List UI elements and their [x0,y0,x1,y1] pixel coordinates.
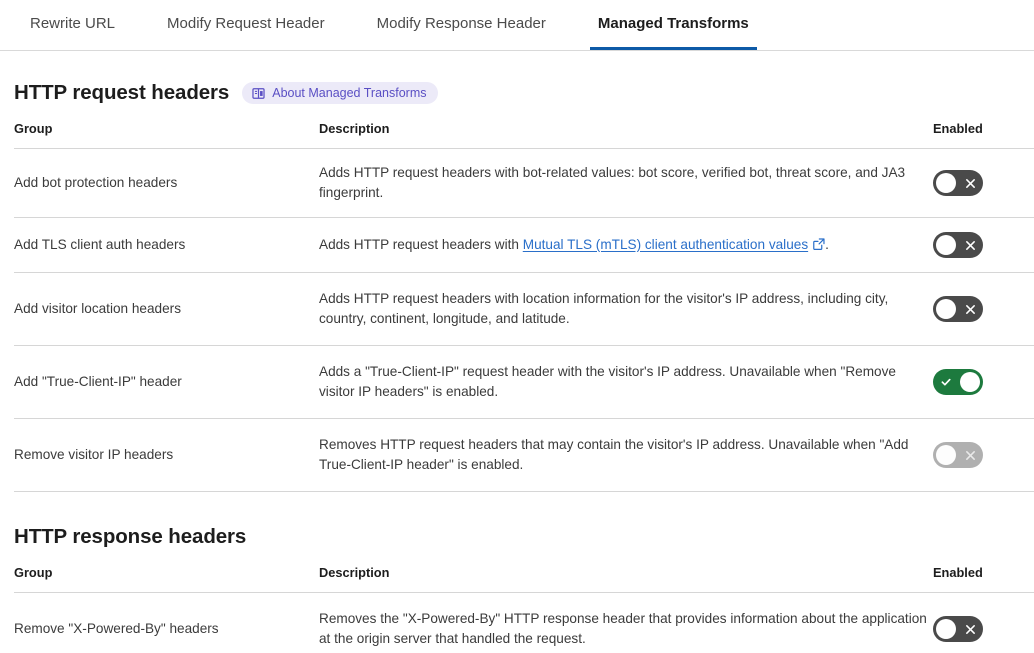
column-header-enabled: Enabled [933,565,1034,593]
toggle-cross-icon [957,616,983,642]
external-link-icon [813,236,825,256]
about-badge-label: About Managed Transforms [272,86,426,100]
row-enabled-cell [933,419,1034,492]
toggle-knob [936,235,956,255]
table-row: Add TLS client auth headers Adds HTTP re… [14,218,1034,273]
tab-label: Modify Request Header [167,15,325,32]
toggle-cross-icon [957,232,983,258]
row-group-name: Remove visitor IP headers [14,419,319,492]
response-headers-table: Group Description Enabled Remove "X-Powe… [14,565,1034,653]
tab-managed-transforms[interactable]: Managed Transforms [590,0,757,50]
request-section-header: HTTP request headers About Managed Trans… [14,81,1020,105]
row-enabled-cell [933,149,1034,218]
table-row: Add "True-Client-IP" header Adds a "True… [14,346,1034,419]
row-description: Removes HTTP request headers that may co… [319,419,933,492]
description-text-before: Adds HTTP request headers with [319,237,523,252]
row-description: Adds HTTP request headers with Mutual TL… [319,218,933,273]
row-description: Adds HTTP request headers with bot-relat… [319,149,933,218]
column-header-group: Group [14,565,319,593]
about-managed-transforms-badge[interactable]: About Managed Transforms [242,82,438,104]
link-label: Mutual TLS (mTLS) client authentication … [523,237,808,252]
tab-label: Modify Response Header [377,15,546,32]
toggle-remove-visitor-ip-headers [933,442,983,468]
tab-modify-response-header[interactable]: Modify Response Header [369,0,554,50]
row-group-name: Add "True-Client-IP" header [14,346,319,419]
toggle-knob [936,299,956,319]
toggle-remove-x-powered-by-headers[interactable] [933,616,983,642]
toggle-cross-icon [957,442,983,468]
table-row: Remove visitor IP headers Removes HTTP r… [14,419,1034,492]
toggle-knob [936,173,956,193]
tab-bar: Rewrite URL Modify Request Header Modify… [0,0,1034,51]
column-header-enabled: Enabled [933,121,1034,149]
mtls-documentation-link[interactable]: Mutual TLS (mTLS) client authentication … [523,237,825,252]
http-response-headers-section: HTTP response headers Group Description … [0,525,1034,653]
table-row: Add bot protection headers Adds HTTP req… [14,149,1034,218]
column-header-description: Description [319,565,933,593]
toggle-knob [936,445,956,465]
tab-rewrite-url[interactable]: Rewrite URL [22,0,123,50]
tab-modify-request-header[interactable]: Modify Request Header [159,0,333,50]
tab-label: Managed Transforms [598,15,749,32]
toggle-add-true-client-ip-header[interactable] [933,369,983,395]
column-header-description: Description [319,121,933,149]
row-description: Adds HTTP request headers with location … [319,273,933,346]
description-text-after: . [825,237,829,252]
table-header-row: Group Description Enabled [14,565,1034,593]
toggle-knob [936,619,956,639]
toggle-add-tls-client-auth-headers[interactable] [933,232,983,258]
toggle-cross-icon [957,296,983,322]
row-group-name: Remove "X-Powered-By" headers [14,593,319,653]
table-header-row: Group Description Enabled [14,121,1034,149]
tab-label: Rewrite URL [30,15,115,32]
toggle-cross-icon [957,170,983,196]
table-row: Add visitor location headers Adds HTTP r… [14,273,1034,346]
row-enabled-cell [933,593,1034,653]
request-headers-table: Group Description Enabled Add bot protec… [14,121,1034,492]
response-section-header: HTTP response headers [14,525,1020,549]
row-group-name: Add TLS client auth headers [14,218,319,273]
row-enabled-cell [933,218,1034,273]
http-request-headers-section: HTTP request headers About Managed Trans… [0,81,1034,492]
row-group-name: Add bot protection headers [14,149,319,218]
table-row: Remove "X-Powered-By" headers Removes th… [14,593,1034,653]
toggle-knob [960,372,980,392]
page-title-response: HTTP response headers [14,525,246,549]
row-group-name: Add visitor location headers [14,273,319,346]
page-title-request: HTTP request headers [14,81,229,105]
row-enabled-cell [933,273,1034,346]
row-description: Adds a "True-Client-IP" request header w… [319,346,933,419]
toggle-add-visitor-location-headers[interactable] [933,296,983,322]
row-enabled-cell [933,346,1034,419]
book-icon [252,87,265,100]
toggle-add-bot-protection-headers[interactable] [933,170,983,196]
column-header-group: Group [14,121,319,149]
toggle-check-icon [933,369,959,395]
row-description: Removes the "X-Powered-By" HTTP response… [319,593,933,653]
